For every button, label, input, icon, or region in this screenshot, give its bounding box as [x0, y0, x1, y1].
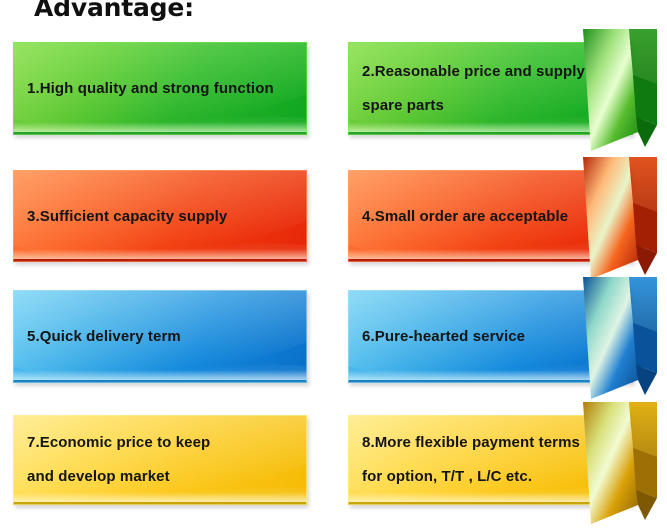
- advantage-grid: 1.High quality and strong function: [0, 0, 667, 526]
- advantage-label: 5.Quick delivery term: [27, 290, 297, 383]
- advantage-card-3[interactable]: 3.Sufficient capacity supply: [13, 170, 307, 262]
- advantage-card-8[interactable]: 8.More flexible payment terms for option…: [348, 415, 633, 505]
- advantage-card-6[interactable]: 6.Pure-hearted service: [348, 290, 633, 383]
- banner-green: 2.Reasonable price and supply spare part…: [348, 42, 633, 135]
- advantage-label: 4.Small order are acceptable: [362, 170, 623, 262]
- advantage-card-1[interactable]: 1.High quality and strong function: [13, 42, 307, 135]
- advantage-text-line: 6.Pure-hearted service: [362, 322, 623, 351]
- advantage-label: 3.Sufficient capacity supply: [27, 170, 297, 262]
- advantage-text-line: for option, T/T , L/C etc.: [362, 460, 623, 494]
- advantage-text-line: and develop market: [27, 460, 297, 494]
- advantage-card-7[interactable]: 7.Economic price to keep and develop mar…: [13, 415, 307, 505]
- advantage-label: 1.High quality and strong function: [27, 42, 297, 135]
- advantage-text-line: 7.Economic price to keep: [27, 426, 297, 460]
- advantage-card-5[interactable]: 5.Quick delivery term: [13, 290, 307, 383]
- banner-yellow: 8.More flexible payment terms for option…: [348, 415, 633, 505]
- advantage-text-line: 3.Sufficient capacity supply: [27, 202, 297, 231]
- advantage-card-4[interactable]: 4.Small order are acceptable: [348, 170, 633, 262]
- banner-red: 4.Small order are acceptable: [348, 170, 633, 262]
- advantage-label: 8.More flexible payment terms for option…: [362, 415, 623, 505]
- advantage-label: 7.Economic price to keep and develop mar…: [27, 415, 297, 505]
- advantage-text-line: 4.Small order are acceptable: [362, 202, 623, 231]
- advantage-text-line: 2.Reasonable price and supply: [362, 55, 623, 89]
- banner-red: 3.Sufficient capacity supply: [13, 170, 307, 262]
- advantage-text-line: 1.High quality and strong function: [27, 74, 297, 103]
- advantage-text-line: 5.Quick delivery term: [27, 322, 297, 351]
- advantage-text-line: 8.More flexible payment terms: [362, 426, 623, 460]
- advantage-label: 6.Pure-hearted service: [362, 290, 623, 383]
- banner-green: 1.High quality and strong function: [13, 42, 307, 135]
- advantage-text-line: spare parts: [362, 89, 623, 123]
- banner-blue: 5.Quick delivery term: [13, 290, 307, 383]
- advantage-label: 2.Reasonable price and supply spare part…: [362, 42, 623, 135]
- advantage-card-2[interactable]: 2.Reasonable price and supply spare part…: [348, 42, 633, 135]
- banner-blue: 6.Pure-hearted service: [348, 290, 633, 383]
- banner-yellow: 7.Economic price to keep and develop mar…: [13, 415, 307, 505]
